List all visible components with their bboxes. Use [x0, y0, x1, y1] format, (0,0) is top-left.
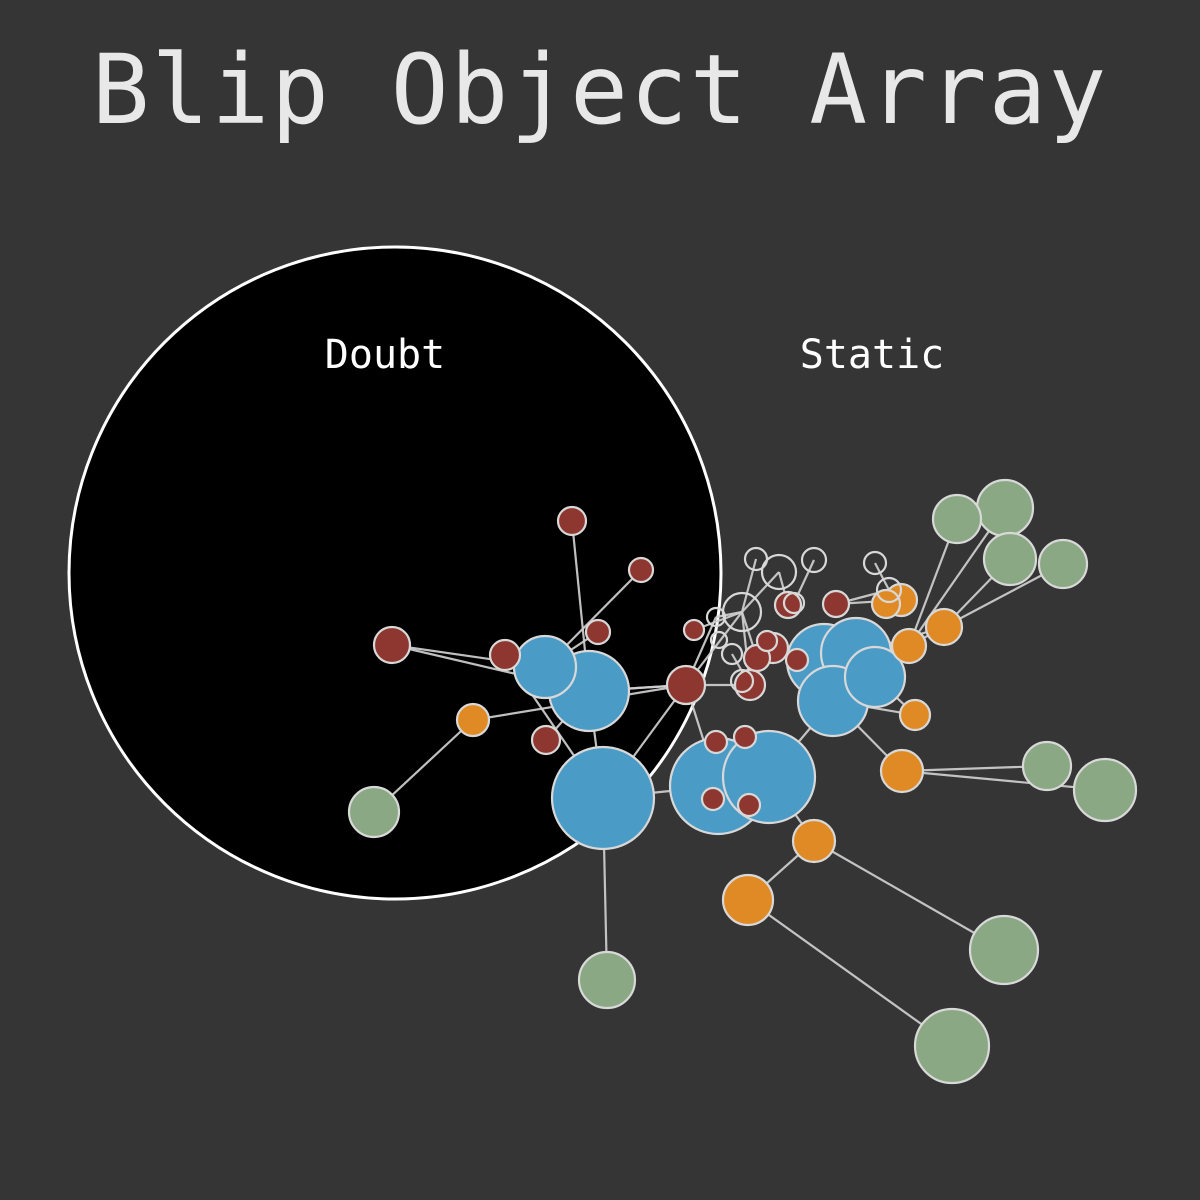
graph-node-green[interactable] — [1074, 759, 1136, 821]
graph-node-red[interactable] — [374, 627, 410, 663]
graph-node-red[interactable] — [702, 788, 724, 810]
graph-node-red[interactable] — [786, 649, 808, 671]
graph-node-red[interactable] — [738, 794, 760, 816]
graph-node-orange[interactable] — [872, 590, 900, 618]
graph-node-orange[interactable] — [892, 629, 926, 663]
graph-node-blue[interactable] — [514, 636, 576, 698]
graph-node-orange[interactable] — [881, 750, 923, 792]
graph-node-blue[interactable] — [552, 747, 654, 849]
graph-node-red[interactable] — [757, 631, 777, 651]
graph-node-green[interactable] — [915, 1009, 989, 1083]
graph-node-orange[interactable] — [900, 700, 930, 730]
group-label-doubt: Doubt — [325, 332, 445, 378]
graph-node-green[interactable] — [1039, 540, 1087, 588]
visualization-stage: Blip Object Array DoubtStatic — [0, 0, 1200, 1200]
graph-node-red[interactable] — [667, 666, 705, 704]
graph-node-green[interactable] — [1023, 742, 1071, 790]
graph-node-red[interactable] — [734, 726, 756, 748]
graph-node-red[interactable] — [705, 731, 727, 753]
graph-node-red[interactable] — [532, 726, 560, 754]
graph-node-green[interactable] — [970, 916, 1038, 984]
graph-node-green[interactable] — [349, 787, 399, 837]
graph-node-red[interactable] — [684, 620, 704, 640]
graph-node-red[interactable] — [823, 591, 849, 617]
graph-node-green[interactable] — [984, 533, 1036, 585]
graph-node-green[interactable] — [933, 495, 981, 543]
graph-node-red[interactable] — [490, 640, 520, 670]
graph-node-orange[interactable] — [457, 704, 489, 736]
graph-node-green[interactable] — [579, 952, 635, 1008]
blip-graph-canvas: DoubtStatic — [0, 0, 1200, 1200]
graph-node-red[interactable] — [586, 620, 610, 644]
graph-node-red[interactable] — [629, 558, 653, 582]
graph-node-red[interactable] — [558, 507, 586, 535]
graph-node-green[interactable] — [977, 480, 1033, 536]
graph-node-orange[interactable] — [723, 875, 773, 925]
graph-node-orange[interactable] — [926, 609, 962, 645]
graph-node-orange[interactable] — [793, 820, 835, 862]
group-label-static: Static — [800, 332, 945, 378]
